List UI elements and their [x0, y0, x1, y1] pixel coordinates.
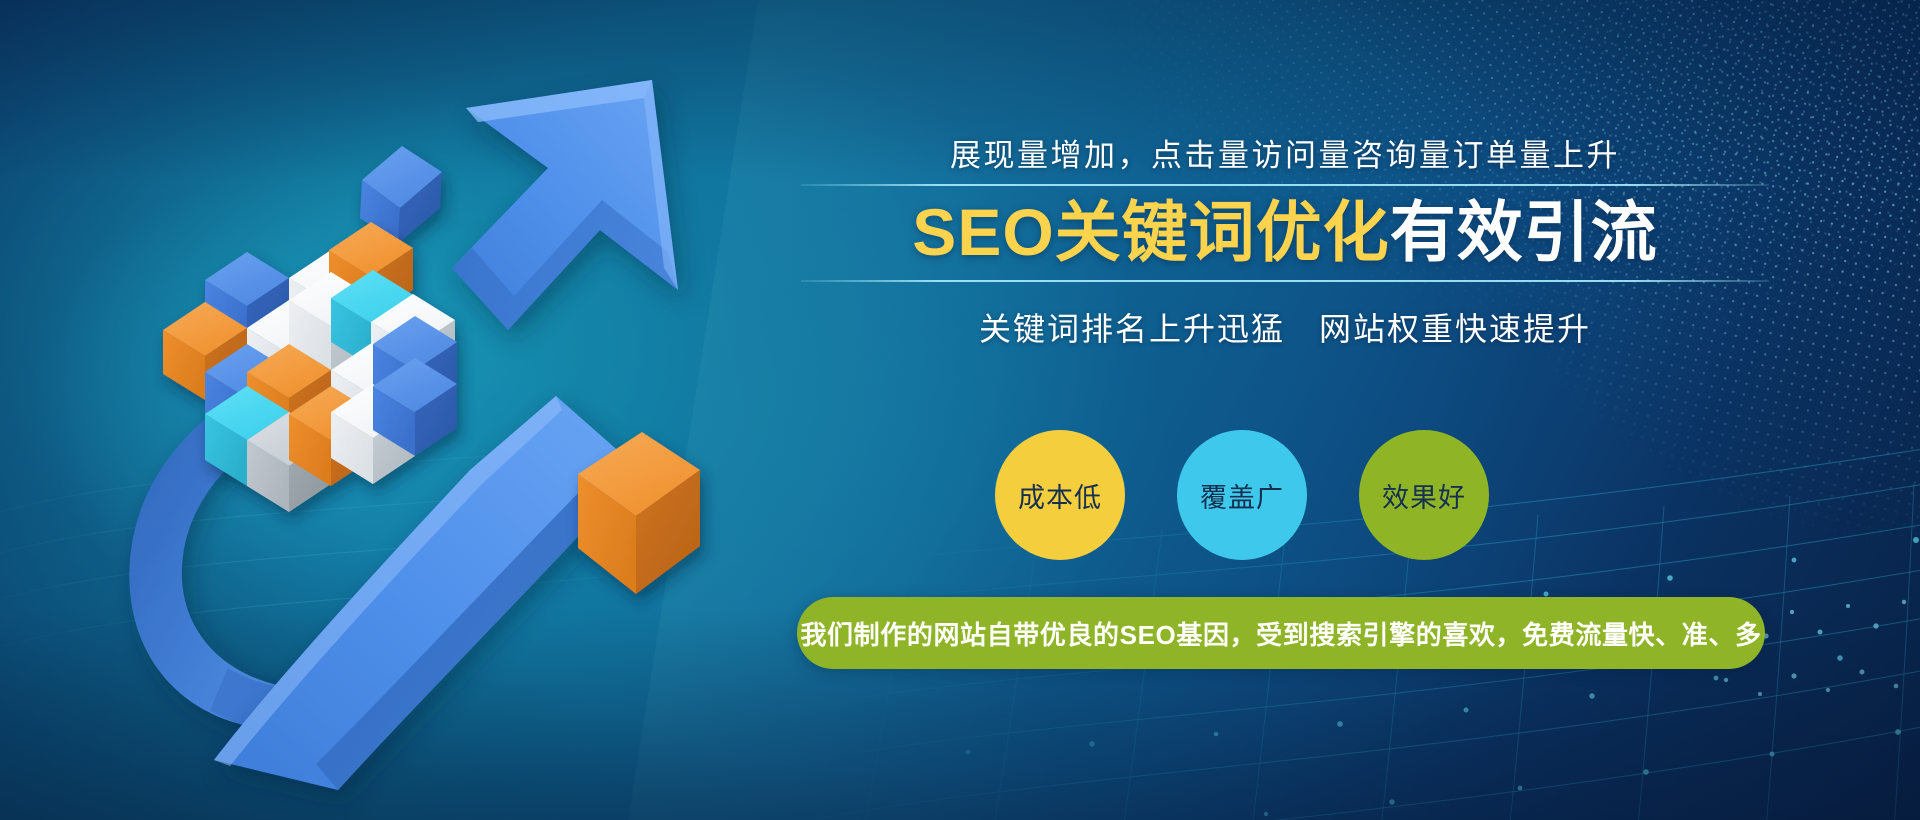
green-ribbon-text: 我们制作的网站自带优良的SEO基因，受到搜索引擎的喜欢，免费流量快、准、多	[800, 615, 1761, 652]
hero-artwork	[0, 0, 900, 820]
banner-headline: SEO关键词优化有效引流	[710, 195, 1860, 270]
divider-rule-top	[801, 184, 1769, 186]
headline-text-block: 展现量增加，点击量访问量咨询量订单量上升 SEO关键词优化有效引流 关键词排名上…	[710, 140, 1860, 350]
banner-tagline: 关键词排名上升迅猛 网站权重快速提升	[710, 304, 1860, 350]
feature-bubble-group: 成本低 覆盖广 效果好	[995, 430, 1555, 570]
headline-highlight: SEO关键词优化	[912, 195, 1389, 269]
feature-bubble-coverage-label: 覆盖广	[1200, 476, 1284, 515]
green-ribbon-banner: 我们制作的网站自带优良的SEO基因，受到搜索引擎的喜欢，免费流量快、准、多	[797, 597, 1765, 669]
feature-bubble-coverage[interactable]: 覆盖广	[1177, 430, 1307, 560]
divider-rule-bottom	[801, 280, 1769, 282]
feature-bubble-cost[interactable]: 成本低	[995, 430, 1125, 560]
banner-subhead: 展现量增加，点击量访问量咨询量订单量上升	[710, 140, 1860, 171]
feature-bubble-result[interactable]: 效果好	[1359, 430, 1489, 560]
feature-bubble-result-label: 效果好	[1382, 476, 1466, 515]
feature-bubble-cost-label: 成本低	[1018, 476, 1102, 515]
seo-promo-banner: 展现量增加，点击量访问量咨询量订单量上升 SEO关键词优化有效引流 关键词排名上…	[0, 0, 1920, 820]
headline-rest: 有效引流	[1390, 195, 1658, 269]
